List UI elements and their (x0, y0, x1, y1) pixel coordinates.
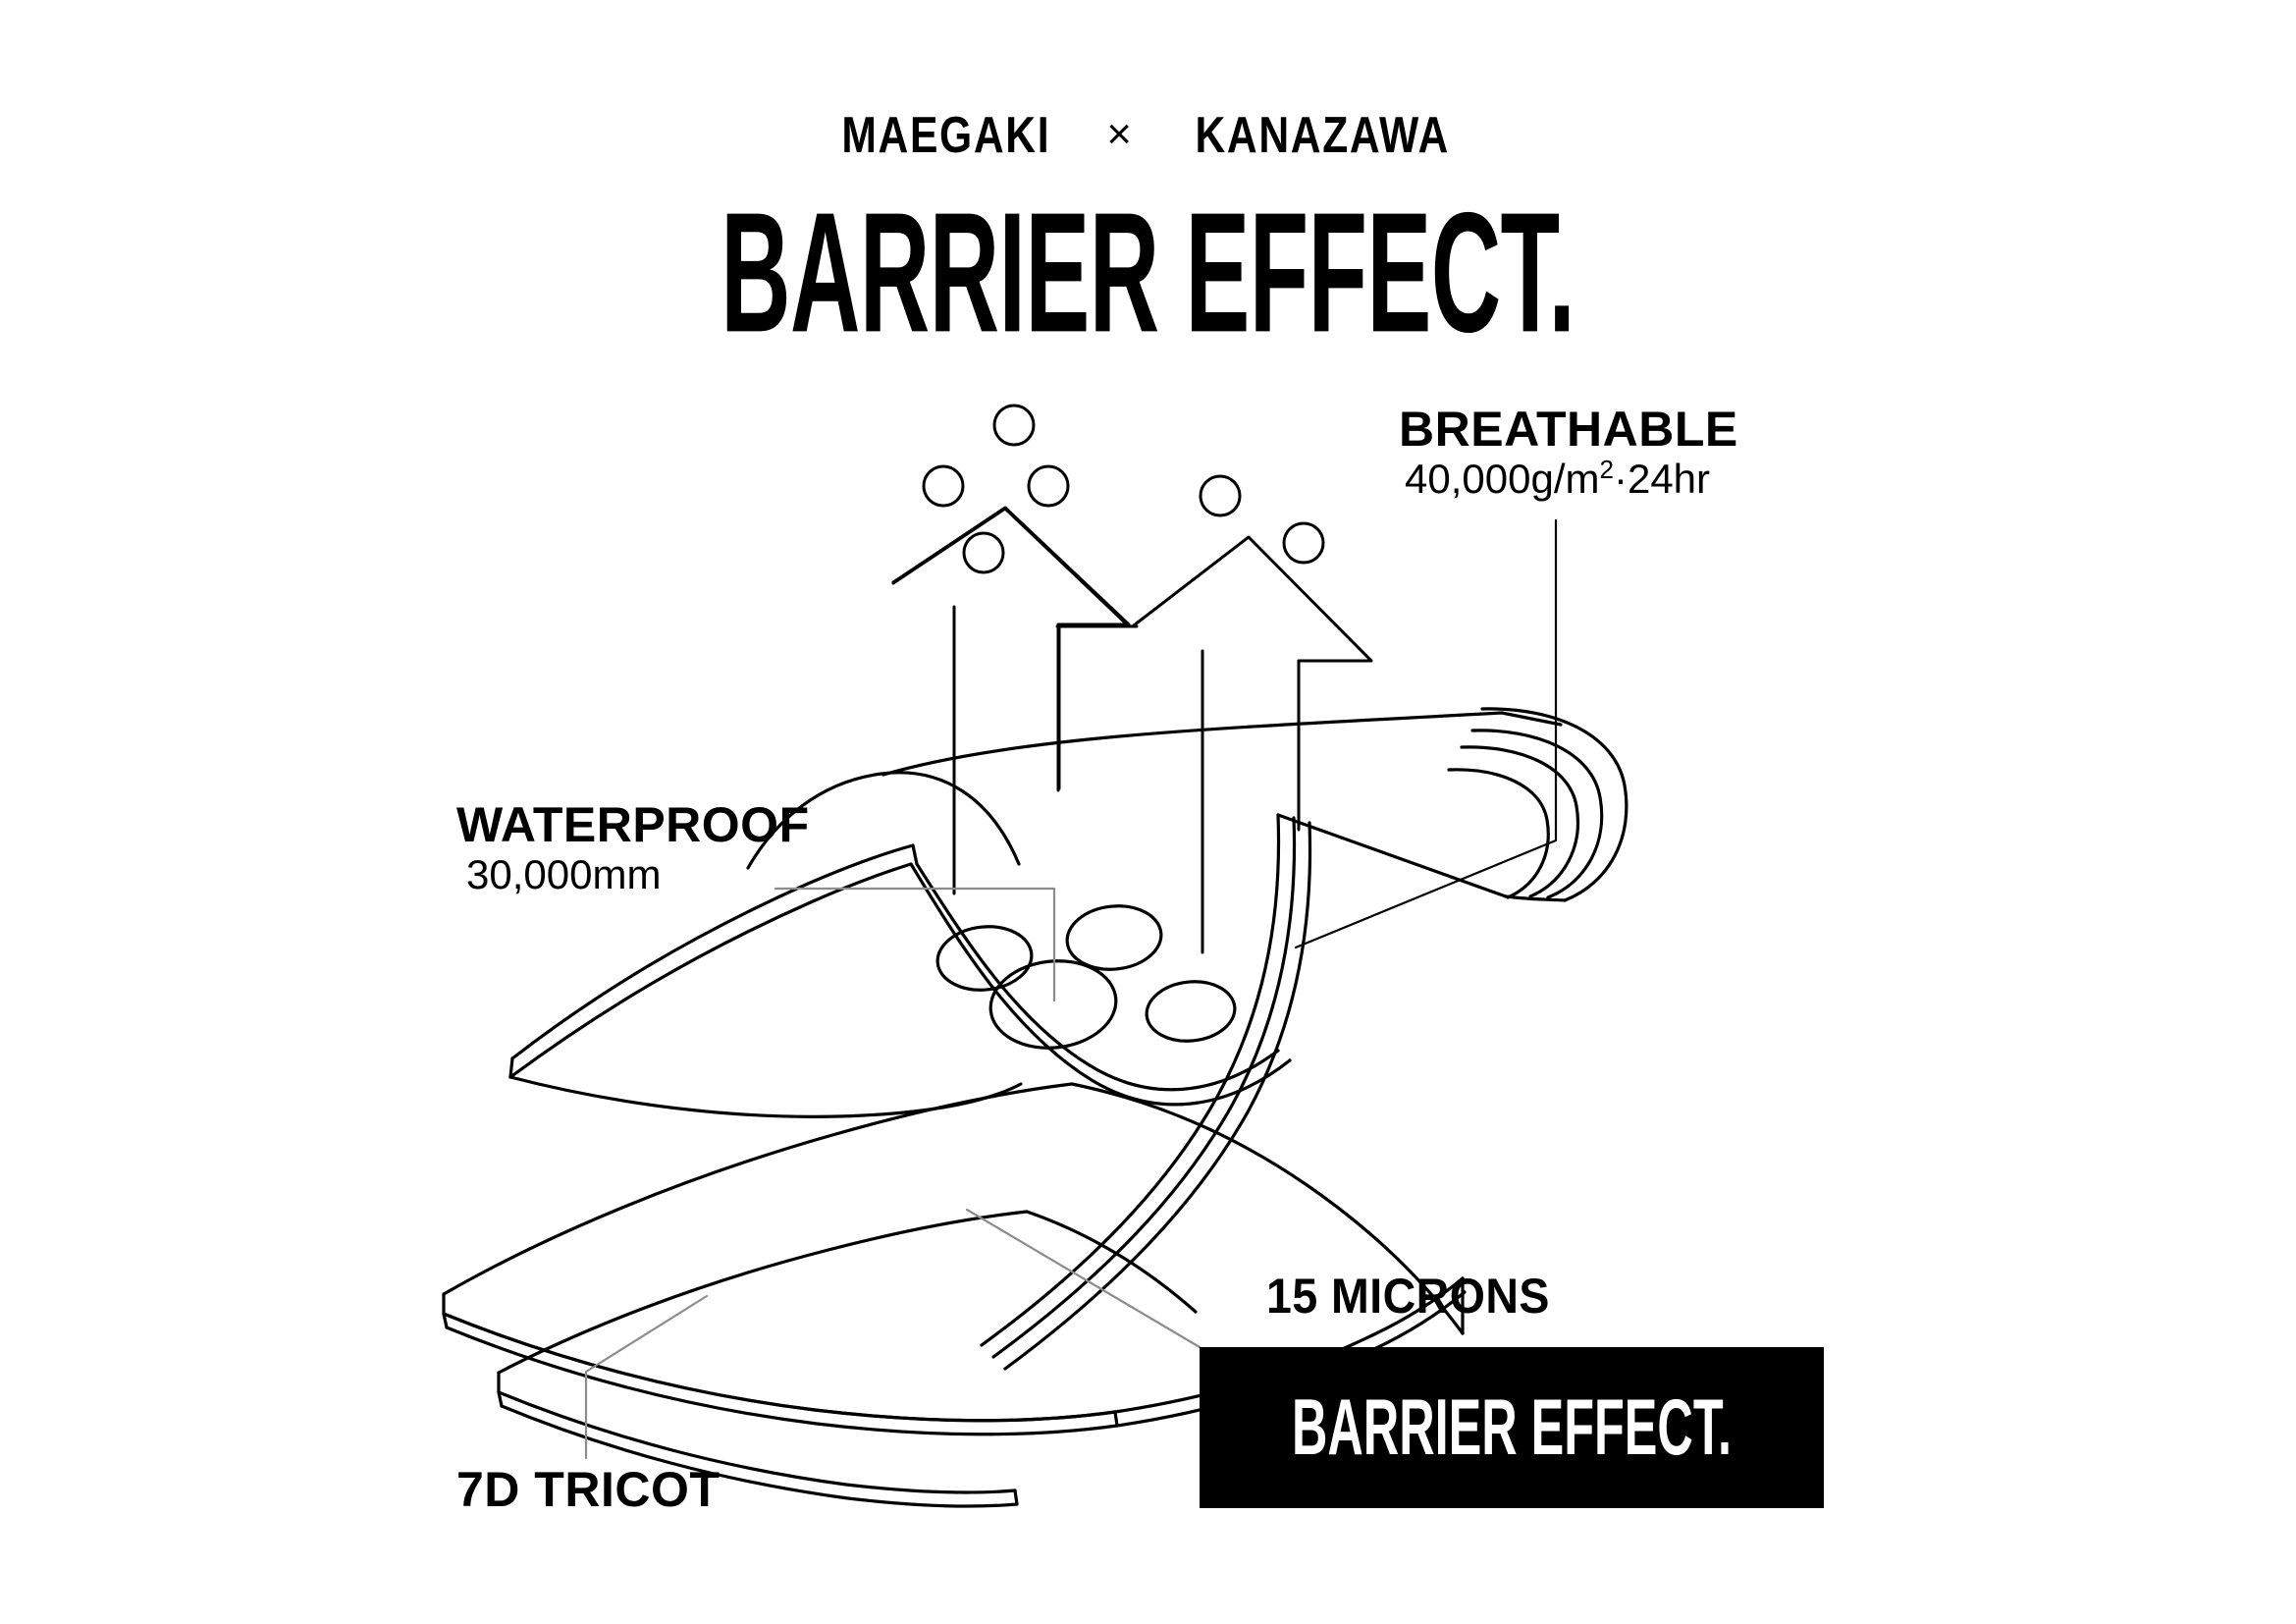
barrier-effect-badge-label: BARRIER EFFECT. (1292, 1388, 1732, 1468)
leader-line-tricot (586, 1296, 707, 1458)
callout-microns: 15 MICRONS (1266, 1272, 1572, 1322)
callout-waterproof-value: 30,000mm (456, 850, 810, 899)
leader-line-microns (967, 1210, 1200, 1347)
callout-waterproof: WATERPROOF 30,000mm (456, 800, 810, 899)
membrane-fold-ridge (913, 845, 917, 864)
vapor-arrow-left (893, 509, 1128, 889)
membrane-right-skirt-c (1005, 823, 1310, 1369)
vapor-bubble-icon (924, 466, 963, 506)
membrane-curl-lip (1278, 815, 1506, 896)
mid-sheet-thickness-front (444, 1314, 1115, 1421)
callout-tricot: 7D TRICOT (456, 1465, 720, 1515)
membrane-pore-icon (934, 922, 1035, 995)
membrane-valley-front (917, 864, 1278, 1090)
callout-microns-title: 15 MICRONS (1266, 1272, 1550, 1322)
poster-root: MAEGAKI×KANAZAWA BARRIER EFFECT. (0, 0, 2296, 1624)
membrane-pores-group (934, 901, 1238, 1054)
membrane-curl-lip-edge (1506, 896, 1565, 900)
laminate-diagram (0, 0, 2296, 1624)
callout-breathable: BREATHABLE 40,000g/m2·24hr (1399, 405, 1738, 504)
vapor-bubble-icon (964, 533, 1003, 572)
callout-breathable-value-main: 40,000g/m (1405, 456, 1599, 502)
bottom-sheet-back-edge (1027, 1212, 1196, 1312)
membrane-curl-outer (1482, 709, 1627, 900)
membrane-right-skirt-a (982, 815, 1279, 1345)
callout-breathable-value-sup: 2 (1599, 455, 1613, 484)
callout-tricot-title: 7D TRICOT (456, 1465, 720, 1515)
vapor-arrow-right-outline (1134, 537, 1371, 661)
callout-breathable-value-tail: ·24hr (1614, 456, 1710, 502)
callout-waterproof-title: WATERPROOF (456, 800, 810, 850)
membrane-underside-front (510, 1077, 1021, 1116)
vapor-bubble-icon (1029, 466, 1068, 506)
membrane-top-surface-back (883, 713, 1561, 775)
callout-breathable-value: 40,000g/m2·24hr (1399, 455, 1738, 504)
bottom-sheet-top-edge (499, 1212, 1027, 1373)
vapor-bubble-icon (994, 406, 1034, 445)
mid-sheet-thickness-front2 (447, 1327, 1117, 1435)
vapor-bubble-icon (1201, 476, 1240, 515)
callout-breathable-title: BREATHABLE (1399, 405, 1738, 455)
vapor-arrow-left-outline (893, 508, 1129, 624)
membrane-left-wing-tip (510, 1058, 512, 1077)
barrier-effect-badge: BARRIER EFFECT. (1200, 1347, 1824, 1508)
membrane-pore-icon (1144, 977, 1238, 1045)
vapor-bubble-icon (1284, 523, 1323, 563)
